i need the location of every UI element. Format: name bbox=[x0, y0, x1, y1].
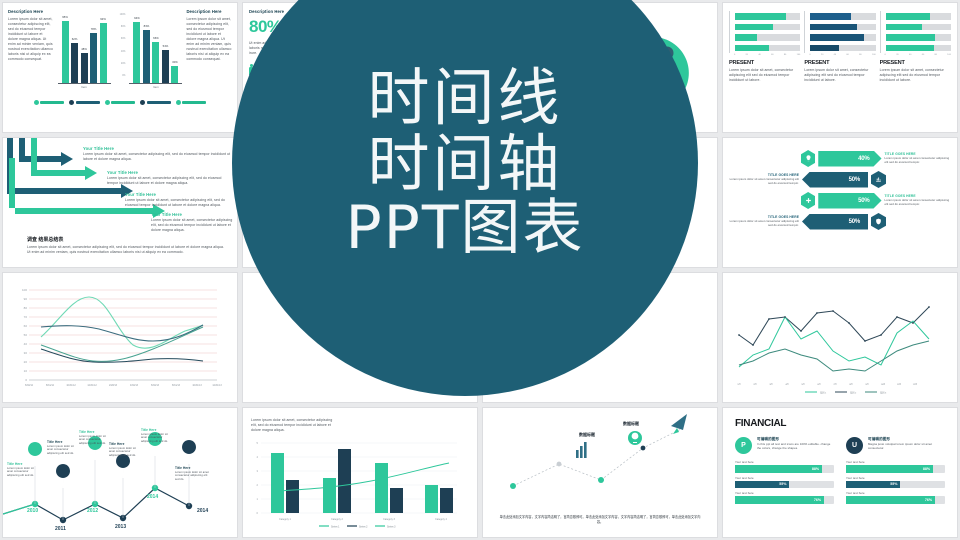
s1-chart-a-bars: 95% 62% 48% 78% 93% bbox=[58, 9, 111, 84]
chevron-row[interactable]: TITLE GOES HERE Lorem ipsum dolor sit am… bbox=[729, 171, 951, 188]
bar: 62% bbox=[71, 43, 78, 83]
chevron-row[interactable]: 40% TITLE GOES HERE Lorem ipsum dolor si… bbox=[801, 150, 951, 167]
series-line bbox=[739, 307, 929, 345]
legend-label bbox=[111, 101, 135, 104]
series-line bbox=[41, 349, 203, 362]
hero-line-1: 时间线 bbox=[367, 65, 562, 131]
bar bbox=[390, 488, 403, 513]
svg-text:5: 5 bbox=[257, 441, 259, 445]
s1-right-heading: Description Here bbox=[186, 9, 232, 15]
progress-value: 76% bbox=[735, 496, 824, 504]
chart-icon bbox=[871, 171, 886, 188]
progress-label: Your text here bbox=[846, 476, 945, 480]
path-label: 数据标题 bbox=[622, 420, 640, 426]
x-tick: 40 bbox=[909, 54, 911, 56]
svg-text:4: 4 bbox=[257, 455, 259, 459]
arrow-step[interactable] bbox=[19, 138, 73, 166]
progress-bar: 76% bbox=[846, 496, 945, 504]
bar-value: 78% bbox=[91, 27, 97, 31]
legend-label: Series 3 bbox=[387, 525, 396, 528]
svg-text:60: 60 bbox=[24, 324, 28, 328]
hbar-card[interactable]: 0 20 40 60 80 100 PRESENT Lorem ipsum do… bbox=[804, 11, 875, 83]
legend-item[interactable] bbox=[105, 100, 136, 105]
svg-text:6/30/13: 6/30/13 bbox=[151, 384, 160, 387]
svg-text:5月: 5月 bbox=[801, 382, 804, 386]
svg-text:7月: 7月 bbox=[833, 382, 836, 386]
hbar-xticks: 0 20 40 60 80 100 bbox=[729, 54, 800, 56]
legend-dot-icon bbox=[105, 100, 110, 105]
progress-label: Your text here bbox=[846, 491, 945, 495]
path-node[interactable] bbox=[557, 462, 562, 467]
progress-bar: 88% bbox=[846, 465, 945, 473]
year-label: 2010 bbox=[27, 508, 38, 514]
svg-text:4/30/13: 4/30/13 bbox=[130, 384, 139, 387]
chevron-text: TITLE GOES HERE Lorem ipsum dolor sit am… bbox=[729, 215, 799, 228]
path-node[interactable] bbox=[510, 483, 516, 489]
x-tick: 0 bbox=[885, 54, 886, 56]
bar-value: 62% bbox=[72, 37, 78, 41]
legend-dot-icon bbox=[140, 100, 145, 105]
svg-text:8/31/13: 8/31/13 bbox=[172, 384, 181, 387]
svg-text:8/31/12: 8/31/12 bbox=[46, 384, 55, 387]
hbar-row bbox=[886, 13, 951, 20]
bar-value: 48% bbox=[81, 47, 87, 51]
hbar-row bbox=[886, 34, 951, 41]
x-tick: 40 bbox=[758, 54, 760, 56]
legend-label: 系列 3 bbox=[880, 391, 887, 395]
timeline-item-body: Lorem ipsum dolor sit amet consectetur a… bbox=[7, 467, 37, 478]
s1-chart-a: 95% 62% 48% 78% 93% Item bbox=[58, 9, 111, 89]
timeline-item: Title Here Lorem ipsum dolor sit amet co… bbox=[141, 428, 173, 444]
s1-y-axis: 100% 80% 60% 40% 20% 0% bbox=[115, 9, 126, 82]
year-label: 2014 bbox=[197, 508, 208, 514]
timeline-item-body: Lorem ipsum dolor sit amet consectetur a… bbox=[175, 471, 209, 482]
screenshot-stage: Description Here Lorem ipsum dolor sit a… bbox=[0, 0, 960, 540]
x-ticks: 1月2月3月 4月5月6月 7月8月9月 10月11月12月 bbox=[737, 382, 917, 386]
hbar-row bbox=[735, 45, 800, 52]
dotted-path bbox=[513, 428, 683, 486]
path-label: 数据标题 bbox=[578, 431, 596, 437]
timeline-item: Title Here Lorem ipsum dolor sit amet co… bbox=[47, 440, 77, 456]
x-tick: 80 bbox=[859, 54, 861, 56]
x-tick: Category 2 bbox=[331, 518, 343, 521]
hbar-row bbox=[886, 45, 951, 52]
y-tick: 0% bbox=[115, 70, 126, 82]
slide-thumb-category-bar-chart[interactable]: Lorem ipsum dolor sit amet, consectetur … bbox=[243, 408, 477, 537]
legend-item[interactable] bbox=[69, 100, 100, 105]
timeline-item: Title Here Lorem ipsum dolor sit amet co… bbox=[7, 462, 37, 478]
hbar-row bbox=[735, 34, 800, 41]
s1-chart-b-bars: 94% 83% 66% 54% 30% bbox=[129, 9, 182, 84]
legend: 系列 1 系列 2 系列 3 bbox=[805, 391, 887, 395]
path-node[interactable] bbox=[641, 446, 646, 451]
slide-thumb-chevron-percent[interactable]: 40% TITLE GOES HERE Lorem ipsum dolor si… bbox=[723, 138, 957, 267]
progress-value: 88% bbox=[846, 465, 933, 473]
x-tick: 0 bbox=[734, 54, 735, 56]
s11-path: 数据标题 数据标题 bbox=[483, 408, 717, 508]
hbar-card-body: Lorem ipsum dolor sit amet, consectetur … bbox=[729, 68, 800, 83]
chevron-bar: 40% bbox=[818, 151, 881, 167]
slide-thumb-financial[interactable]: FINANCIAL P 可编辑的图形 In this ppt all text … bbox=[723, 408, 957, 537]
bar-value: 30% bbox=[172, 60, 178, 64]
chevron-body: Lorem ipsum dolor sit amet consectetur a… bbox=[885, 157, 951, 165]
series-line bbox=[739, 341, 929, 371]
s5-item-body: Lorem ipsum dolor sit amet, consectetur … bbox=[125, 198, 231, 208]
series-line bbox=[41, 325, 203, 341]
legend-item[interactable] bbox=[176, 100, 207, 105]
legend-label: Series 1 bbox=[331, 525, 340, 528]
svg-text:4月: 4月 bbox=[785, 382, 788, 386]
year-label: 2012 bbox=[87, 508, 98, 514]
timeline-item-body: Lorem ipsum dolor sit amet consectetur a… bbox=[109, 447, 139, 458]
financial-card[interactable]: U 可编辑的图形 Magna justo volutpat lorem ipsu… bbox=[846, 437, 945, 504]
svg-text:20: 20 bbox=[24, 360, 28, 364]
chart-icon bbox=[576, 442, 587, 458]
s5-item: Your Title Here Lorem ipsum dolor sit am… bbox=[107, 170, 231, 186]
s7-line-chart: 1009080 706050 403020 100 6/30/128/31/12… bbox=[3, 273, 237, 402]
hbar-row bbox=[735, 13, 800, 20]
bar bbox=[286, 480, 299, 513]
x-tick: Category 1 bbox=[279, 518, 291, 521]
y-tick: 20% bbox=[115, 58, 126, 70]
chevron-text: TITLE GOES HERE Lorem ipsum dolor sit am… bbox=[885, 194, 951, 207]
timeline-item: Title Here Lorem ipsum dolor sit amet co… bbox=[109, 442, 139, 458]
svg-text:1月: 1月 bbox=[737, 382, 740, 386]
hbar-row bbox=[886, 24, 951, 31]
hbar-row bbox=[810, 45, 875, 52]
svg-text:50: 50 bbox=[24, 333, 28, 337]
svg-text:0: 0 bbox=[25, 378, 27, 382]
svg-text:1: 1 bbox=[257, 497, 259, 501]
x-tick: 80 bbox=[784, 54, 786, 56]
svg-text:8月: 8月 bbox=[849, 382, 852, 386]
progress-label: Your text here bbox=[735, 476, 834, 480]
legend-label: 系列 1 bbox=[820, 391, 827, 395]
x-tick: 40 bbox=[834, 54, 836, 56]
bar bbox=[440, 488, 453, 513]
progress-label: Your text here bbox=[735, 491, 834, 495]
hbar-row bbox=[810, 13, 875, 20]
svg-text:2/28/13: 2/28/13 bbox=[109, 384, 118, 387]
slide-thumb-wave-line-chart[interactable]: 1月2月3月 4月5月6月 7月8月9月 10月11月12月 系列 1 系列 2… bbox=[723, 273, 957, 402]
x-tick: 20 bbox=[821, 54, 823, 56]
hbar-card-title: PRESENT bbox=[729, 60, 800, 66]
legend-label bbox=[182, 101, 206, 104]
chevron-percent: 50% bbox=[858, 198, 869, 204]
progress-value: 55% bbox=[846, 481, 900, 489]
series-line bbox=[739, 317, 929, 367]
bar bbox=[271, 453, 284, 513]
x-tick: 100 bbox=[797, 54, 801, 56]
hbar-row bbox=[810, 34, 875, 41]
svg-text:11月: 11月 bbox=[897, 382, 901, 386]
y-ticks: 1009080 706050 403020 100 bbox=[22, 288, 27, 382]
bar-value: 54% bbox=[163, 44, 169, 48]
progress-value: 55% bbox=[735, 481, 789, 489]
hbar-card[interactable]: 0 20 40 60 80 100 PRESENT Lorem ipsum do… bbox=[729, 11, 800, 83]
s5-item-body: Lorem ipsum dolor sit amet, consectetur … bbox=[83, 152, 231, 162]
hbar-card-title: PRESENT bbox=[804, 60, 875, 66]
progress-bar: 88% bbox=[735, 465, 834, 473]
s5-item: Your Title Here Lorem ipsum dolor sit am… bbox=[125, 192, 231, 208]
y-tick: 40% bbox=[115, 46, 126, 58]
timeline-item: Title Here Lorem ipsum dolor sit amet co… bbox=[79, 430, 109, 446]
legend-label bbox=[147, 101, 171, 104]
legend-label: Series 2 bbox=[359, 525, 368, 528]
y-tick: 80% bbox=[115, 21, 126, 33]
chevron-percent: 50% bbox=[849, 177, 860, 183]
hbar-row bbox=[735, 24, 800, 31]
slide-thumb-growth-path[interactable]: 数据标题 数据标题 单击此处添加文字内容，文字内容简洁明了，言简意赅即可。单击此… bbox=[483, 408, 717, 537]
x-ticks: Category 1 Category 2 Category 3 Categor… bbox=[279, 518, 447, 521]
chevron-row[interactable]: TITLE GOES HERE Lorem ipsum dolor sit am… bbox=[729, 213, 951, 230]
timeline-item: Title Here Lorem ipsum dolor sit amet co… bbox=[175, 466, 209, 482]
chevron-bar: 50% bbox=[802, 214, 868, 230]
send-icon[interactable] bbox=[182, 440, 196, 464]
hbar-chart bbox=[729, 11, 800, 53]
timeline-item-body: Lorem ipsum dolor sit amet consectetur a… bbox=[47, 445, 77, 456]
hbar-card-body: Lorem ipsum dolor sit amet, consectetur … bbox=[804, 68, 875, 83]
bar: 66% bbox=[152, 42, 159, 83]
hero-line-3: PPT图表 bbox=[345, 197, 584, 261]
y-tick: 60% bbox=[115, 33, 126, 45]
avatar: P bbox=[735, 437, 752, 454]
svg-text:12/31/13: 12/31/13 bbox=[212, 384, 222, 387]
svg-text:9月: 9月 bbox=[865, 382, 868, 386]
chevron-body: Lorem ipsum dolor sit amet consectetur a… bbox=[729, 220, 799, 228]
bar: 54% bbox=[162, 50, 169, 83]
x-tick: 60 bbox=[771, 54, 773, 56]
rocket-icon bbox=[671, 414, 687, 434]
hbar-chart bbox=[804, 11, 875, 53]
svg-text:3月: 3月 bbox=[769, 382, 772, 386]
s5-item-body: Lorem ipsum dolor sit amet, consectetur … bbox=[151, 218, 235, 233]
hero-line-2: 时间轴 bbox=[367, 131, 562, 197]
x-tick: 0 bbox=[809, 54, 810, 56]
svg-text:12/31/12: 12/31/12 bbox=[87, 384, 97, 387]
financial-title: FINANCIAL bbox=[735, 418, 945, 429]
progress-value: 76% bbox=[846, 496, 935, 504]
bar-value: 95% bbox=[62, 15, 68, 19]
bar: 94% bbox=[133, 22, 140, 83]
legend: Series 1 Series 2 Series 3 bbox=[319, 525, 396, 528]
s1-right-body: Lorem ipsum dolor sit amet, consectetur … bbox=[186, 17, 232, 61]
s1-chart-a-xlabel: Item bbox=[58, 85, 111, 89]
x-tick: 80 bbox=[935, 54, 937, 56]
bulb-icon bbox=[628, 431, 642, 445]
hbar-card-title: PRESENT bbox=[880, 60, 951, 66]
slide-thumb-dual-bar-chart[interactable]: Description Here Lorem ipsum dolor sit a… bbox=[3, 3, 237, 132]
svg-text:80: 80 bbox=[24, 306, 28, 310]
svg-text:0: 0 bbox=[257, 511, 259, 515]
s11-body: 单击此处添加文字内容，文字内容简洁明了，言简意赅即可。单击此处添加文字内容，文字… bbox=[483, 513, 717, 527]
hbar-chart bbox=[880, 11, 951, 53]
y-ticks: 543 210 bbox=[257, 441, 259, 515]
chevron-body: Lorem ipsum dolor sit amet consectetur a… bbox=[885, 199, 951, 207]
medical-icon bbox=[801, 192, 815, 209]
s10-caption: Lorem ipsum dolor sit amet, consectetur … bbox=[243, 408, 345, 433]
svg-text:100: 100 bbox=[22, 288, 27, 292]
hbar-card-body: Lorem ipsum dolor sit amet, consectetur … bbox=[880, 68, 951, 83]
chevron-text: TITLE GOES HERE Lorem ipsum dolor sit am… bbox=[729, 173, 799, 186]
s5-item: Your Title Here Lorem ipsum dolor sit am… bbox=[83, 146, 231, 162]
financial-card-body: Magna justo volutpat lorem ipsum dolor s… bbox=[868, 442, 945, 450]
bar bbox=[425, 485, 438, 513]
svg-text:3: 3 bbox=[257, 469, 259, 473]
x-tick: Category 4 bbox=[435, 518, 447, 521]
slide-thumb-horizontal-bars[interactable]: 0 20 40 60 80 100 PRESENT Lorem ipsum do… bbox=[723, 3, 957, 132]
s1-chart-b-xlabel: Item bbox=[129, 85, 182, 89]
bulb-icon bbox=[801, 150, 815, 167]
bar: 48% bbox=[81, 53, 88, 83]
x-ticks: 6/30/128/31/1210/31/12 12/31/122/28/134/… bbox=[25, 384, 222, 387]
slide-thumb-arrow-steps[interactable]: Your Title Here Lorem ipsum dolor sit am… bbox=[3, 138, 237, 267]
legend-dot-icon bbox=[69, 100, 74, 105]
chevron-bar: 50% bbox=[818, 193, 881, 209]
bar-value: 83% bbox=[144, 24, 150, 28]
s5-item: Your Title Here Lorem ipsum dolor sit am… bbox=[151, 212, 235, 233]
svg-text:10/31/13: 10/31/13 bbox=[192, 384, 202, 387]
svg-text:2: 2 bbox=[257, 483, 259, 487]
series-line bbox=[41, 297, 203, 348]
s5-footer-body: Lorem ipsum dolor sit amet, consectetur … bbox=[27, 245, 227, 255]
bar-value: 93% bbox=[100, 17, 106, 21]
bar bbox=[323, 478, 336, 513]
svg-text:70: 70 bbox=[24, 315, 28, 319]
financial-card-body: In this ppt all text and icons are 100% … bbox=[757, 442, 834, 450]
bar: 93% bbox=[100, 23, 107, 83]
progress-bar: 55% bbox=[735, 481, 834, 489]
progress-bar: 55% bbox=[846, 481, 945, 489]
path-node[interactable] bbox=[598, 477, 604, 483]
chevron-text: TITLE GOES HERE Lorem ipsum dolor sit am… bbox=[885, 152, 951, 165]
legend-item[interactable] bbox=[140, 100, 171, 105]
s1-right-text-block: Description Here Lorem ipsum dolor sit a… bbox=[186, 9, 232, 62]
legend-label bbox=[40, 101, 64, 104]
progress-value: 88% bbox=[735, 465, 822, 473]
s5-item-body: Lorem ipsum dolor sit amet, consectetur … bbox=[107, 176, 231, 186]
x-tick: 20 bbox=[896, 54, 898, 56]
series-3-line bbox=[277, 463, 449, 491]
bar-value: 94% bbox=[134, 16, 140, 20]
y-tick: 100% bbox=[115, 9, 126, 21]
svg-text:30: 30 bbox=[24, 351, 28, 355]
legend-label bbox=[76, 101, 100, 104]
monitor-icon[interactable] bbox=[56, 464, 70, 488]
svg-text:10月: 10月 bbox=[881, 382, 885, 386]
x-tick: 100 bbox=[947, 54, 951, 56]
financial-card[interactable]: P 可编辑的图形 In this ppt all text and icons … bbox=[735, 437, 834, 504]
legend-dot-icon bbox=[34, 100, 39, 105]
bar: 78% bbox=[90, 33, 97, 83]
s10-chart: 543 210 Category 1 Category 2 Category 3… bbox=[243, 433, 477, 529]
s1-left-text-block: Description Here Lorem ipsum dolor sit a… bbox=[8, 9, 54, 62]
year-label: 2014 bbox=[147, 494, 158, 500]
hbar-row bbox=[810, 24, 875, 31]
hbar-card[interactable]: 0 20 40 60 80 100 PRESENT Lorem ipsum do… bbox=[880, 11, 951, 83]
progress-label: Your text here bbox=[735, 460, 834, 464]
svg-text:90: 90 bbox=[24, 297, 28, 301]
progress-label: Your text here bbox=[846, 460, 945, 464]
chevron-percent: 40% bbox=[858, 156, 869, 162]
x-tick: 100 bbox=[872, 54, 876, 56]
svg-text:12月: 12月 bbox=[913, 382, 917, 386]
x-tick: 60 bbox=[846, 54, 848, 56]
s5-footer-title: 调查 结果总结表 bbox=[27, 236, 227, 243]
slide-thumb-line-chart[interactable]: 1009080 706050 403020 100 6/30/128/31/12… bbox=[3, 273, 237, 402]
hbar-xticks: 0 20 40 60 80 100 bbox=[804, 54, 875, 56]
legend-label: 系列 2 bbox=[850, 391, 857, 395]
year-label: 2013 bbox=[115, 524, 126, 530]
x-tick: Category 3 bbox=[383, 518, 395, 521]
timeline-item-body: Lorem ipsum dolor sit amet consectetur a… bbox=[79, 435, 109, 446]
chevron-percent: 50% bbox=[849, 219, 860, 225]
legend-item[interactable] bbox=[34, 100, 65, 105]
hbar-xticks: 0 20 40 60 80 100 bbox=[880, 54, 951, 56]
shield-icon bbox=[871, 213, 886, 230]
s12-wave-chart: 1月2月3月 4月5月6月 7月8月9月 10月11月12月 系列 1 系列 2… bbox=[723, 273, 957, 402]
progress-bar: 76% bbox=[735, 496, 834, 504]
bar: 95% bbox=[62, 21, 69, 83]
svg-text:40: 40 bbox=[24, 342, 28, 346]
svg-text:2月: 2月 bbox=[753, 382, 756, 386]
x-tick: 20 bbox=[746, 54, 748, 56]
year-label: 2011 bbox=[55, 526, 66, 532]
svg-text:10: 10 bbox=[24, 369, 28, 373]
avatar: U bbox=[846, 437, 863, 454]
bar-value: 66% bbox=[153, 36, 159, 40]
chevron-bar: 50% bbox=[802, 172, 868, 188]
s5-footer: 调查 结果总结表 Lorem ipsum dolor sit amet, con… bbox=[27, 236, 227, 255]
bar: 30% bbox=[171, 66, 178, 83]
s1-chart-b: 94% 83% 66% 54% 30% Item bbox=[129, 9, 182, 89]
legend-dot-icon bbox=[176, 100, 181, 105]
svg-text:10/31/12: 10/31/12 bbox=[66, 384, 76, 387]
s1-left-heading: Description Here bbox=[8, 9, 54, 15]
bar bbox=[375, 463, 388, 513]
svg-text:6月: 6月 bbox=[817, 382, 820, 386]
chevron-row[interactable]: 50% TITLE GOES HERE Lorem ipsum dolor si… bbox=[801, 192, 951, 209]
s1-legend bbox=[8, 100, 232, 105]
timeline-years: 2010 2011 2012 2013 2014 2014 bbox=[27, 494, 208, 532]
timeline-item-body: Lorem ipsum dolor sit amet consectetur a… bbox=[141, 433, 173, 444]
x-tick: 60 bbox=[922, 54, 924, 56]
chevron-body: Lorem ipsum dolor sit amet consectetur a… bbox=[729, 178, 799, 186]
s1-left-body: Lorem ipsum dolor sit amet, consectetur … bbox=[8, 17, 54, 61]
svg-text:6/30/12: 6/30/12 bbox=[25, 384, 34, 387]
bar: 83% bbox=[143, 30, 150, 83]
slide-thumb-pin-timeline[interactable]: 2010 2011 2012 2013 2014 2014 Title Here… bbox=[3, 408, 237, 537]
bar bbox=[338, 449, 351, 513]
